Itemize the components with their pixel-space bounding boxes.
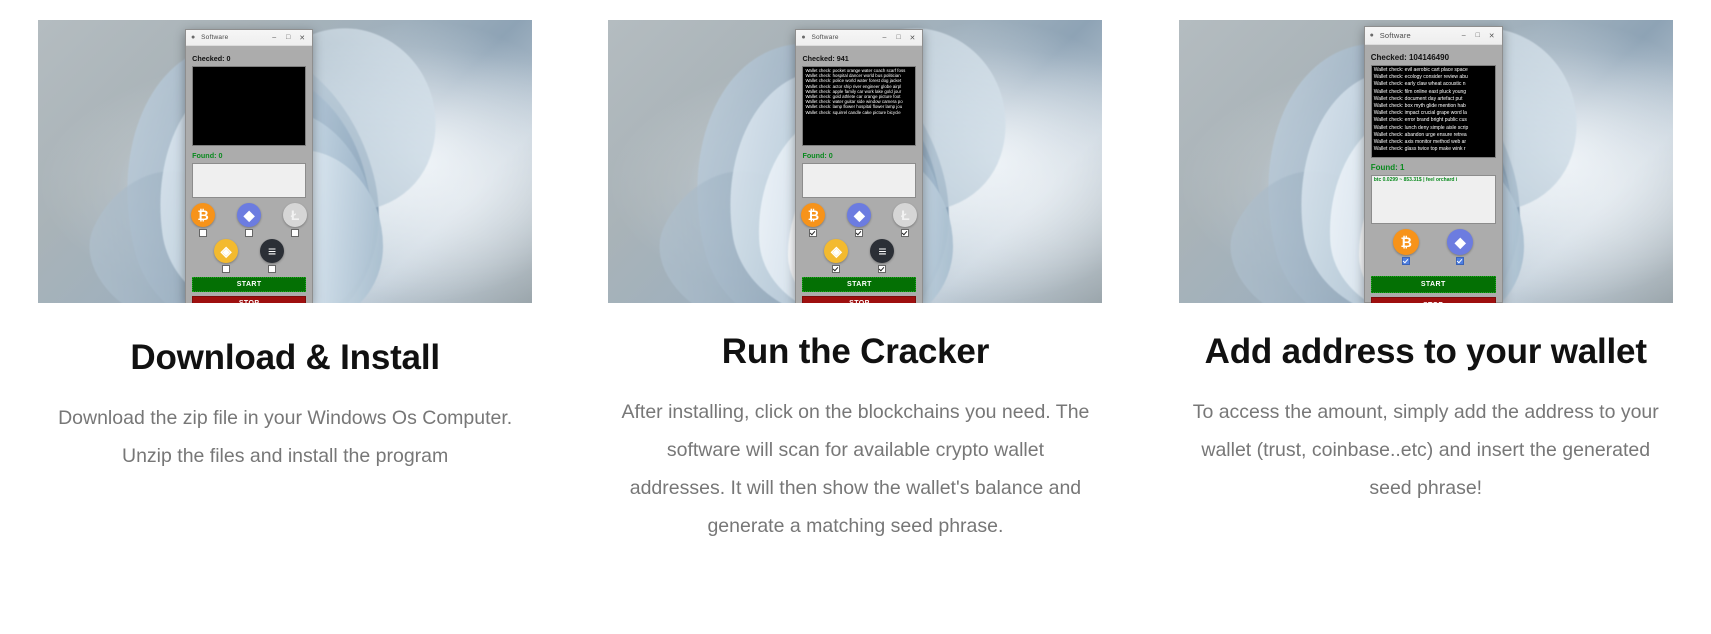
coin-option-litecoin[interactable]: Ł <box>893 203 917 237</box>
step-title-2: Run the Cracker <box>722 331 989 373</box>
found-results-box[interactable] <box>192 163 306 198</box>
log-line: Wallet check: box myth glide mention hab <box>1374 103 1493 110</box>
step-column-3: ● Software – □ ✕ Checked: 104146490 Wall… <box>1141 20 1711 545</box>
litecoin-checkbox[interactable] <box>901 229 909 237</box>
coin-option-binance[interactable]: ◈ <box>214 239 238 273</box>
litecoin-icon: Ł <box>893 203 917 227</box>
bitcoin-checkbox[interactable] <box>1402 257 1410 265</box>
log-line: Wallet check: document day artefact put <box>1374 96 1493 103</box>
checked-counter: Checked: 941 <box>802 54 916 63</box>
solana-icon: ≡ <box>260 239 284 263</box>
screenshot-step-1: ● Software – □ ✕ Checked: 0 Found: 0 <box>38 20 532 303</box>
wallet-check-log[interactable]: Wallet check: evil aerobic cart place sp… <box>1371 65 1496 158</box>
minimize-button[interactable]: – <box>877 31 891 45</box>
bitcoin-checkbox[interactable] <box>199 229 207 237</box>
maximize-button[interactable]: □ <box>1471 29 1485 43</box>
log-line: Wallet check: early claw wheat acoustic … <box>1374 81 1493 88</box>
log-line: Wallet check: axis monitor method web ar <box>1374 139 1493 146</box>
litecoin-checkbox[interactable] <box>291 229 299 237</box>
solana-checkbox[interactable] <box>268 265 276 273</box>
ethereum-checkbox[interactable] <box>855 229 863 237</box>
close-button[interactable]: ✕ <box>905 31 919 45</box>
binance-icon: ◈ <box>824 239 848 263</box>
log-line: Wallet check: squirrel candle cake pictu… <box>805 110 913 115</box>
window-titlebar[interactable]: ● Software – □ ✕ <box>1365 27 1502 45</box>
found-results-box[interactable] <box>802 163 916 198</box>
window-title: Software <box>201 34 228 41</box>
step-title-3: Add address to your wallet <box>1205 331 1647 373</box>
step-column-1: ● Software – □ ✕ Checked: 0 Found: 0 <box>0 20 570 545</box>
coin-option-solana[interactable]: ≡ <box>260 239 284 273</box>
maximize-button[interactable]: □ <box>891 31 905 45</box>
found-counter: Found: 1 <box>1371 163 1496 172</box>
log-line: Wallet check: evil aerobic cart place sp… <box>1374 67 1493 74</box>
coin-option-ethereum[interactable]: ◆ <box>1447 229 1473 265</box>
bitcoin-icon: ₿ <box>1393 229 1419 255</box>
log-line: Wallet check: lamp flower hospital flowe… <box>805 104 913 109</box>
checked-counter: Checked: 0 <box>192 54 306 63</box>
solana-icon: ≡ <box>870 239 894 263</box>
stop-button[interactable]: STOP <box>802 296 916 303</box>
app-window-3[interactable]: ● Software – □ ✕ Checked: 104146490 Wall… <box>1364 26 1503 303</box>
step-column-2: ● Software – □ ✕ Checked: 941 Wallet che… <box>570 20 1140 545</box>
coin-option-bitcoin[interactable]: ₿ <box>801 203 825 237</box>
step-body-3: To access the amount, simply add the add… <box>1191 393 1661 507</box>
log-line: Wallet check: lunch deny simple aisle sc… <box>1374 125 1493 132</box>
coin-option-bitcoin[interactable]: ₿ <box>191 203 215 237</box>
bitcoin-app-icon: ● <box>1368 32 1376 40</box>
log-line: Wallet check: abandon urge ensure retrea <box>1374 132 1493 139</box>
log-line: Wallet check: film online east pluck you… <box>1374 89 1493 96</box>
bitcoin-app-icon: ● <box>189 34 197 42</box>
log-line: Wallet check: ecology consider review ab… <box>1374 74 1493 81</box>
log-line: Wallet check: error brand bright public … <box>1374 117 1493 124</box>
coin-option-ethereum[interactable]: ◆ <box>237 203 261 237</box>
screenshot-step-2: ● Software – □ ✕ Checked: 941 Wallet che… <box>608 20 1102 303</box>
binance-icon: ◈ <box>214 239 238 263</box>
window-titlebar[interactable]: ● Software – □ ✕ <box>796 30 922 46</box>
wallet-check-log[interactable] <box>192 66 306 146</box>
window-title: Software <box>811 34 838 41</box>
ethereum-icon: ◆ <box>1447 229 1473 255</box>
start-button[interactable]: START <box>192 277 306 292</box>
close-button[interactable]: ✕ <box>1485 29 1499 43</box>
log-line: Wallet check: police world water forest … <box>805 78 913 83</box>
coin-option-ethereum[interactable]: ◆ <box>847 203 871 237</box>
coin-option-binance[interactable]: ◈ <box>824 239 848 273</box>
log-line: Wallet check: glass twice top make wink … <box>1374 146 1493 153</box>
window-titlebar[interactable]: ● Software – □ ✕ <box>186 30 312 46</box>
bitcoin-app-icon: ● <box>799 34 807 42</box>
solana-checkbox[interactable] <box>878 265 886 273</box>
maximize-button[interactable]: □ <box>281 31 295 45</box>
coin-option-bitcoin[interactable]: ₿ <box>1393 229 1419 265</box>
coin-selector: ₿ ◆ Ł <box>802 203 916 273</box>
binance-checkbox[interactable] <box>222 265 230 273</box>
found-counter: Found: 0 <box>192 151 306 160</box>
coin-selector: ₿ ◆ Ł <box>192 203 306 273</box>
coin-option-solana[interactable]: ≡ <box>870 239 894 273</box>
found-results-box[interactable]: btc 0.0299 ~ 853.31$ | feel orchard i <box>1371 175 1496 224</box>
coin-option-litecoin[interactable]: Ł <box>283 203 307 237</box>
app-window-1[interactable]: ● Software – □ ✕ Checked: 0 Found: 0 <box>185 29 313 303</box>
step-body-1: Download the zip file in your Windows Os… <box>50 399 520 475</box>
stop-button[interactable]: STOP <box>1371 297 1496 303</box>
app-window-2[interactable]: ● Software – □ ✕ Checked: 941 Wallet che… <box>795 29 923 303</box>
checked-counter: Checked: 104146490 <box>1371 53 1496 62</box>
coin-selector: ₿ ◆ <box>1371 229 1496 265</box>
bitcoin-checkbox[interactable] <box>809 229 817 237</box>
ethereum-checkbox[interactable] <box>1456 257 1464 265</box>
start-button[interactable]: START <box>1371 276 1496 293</box>
screenshot-step-3: ● Software – □ ✕ Checked: 104146490 Wall… <box>1179 20 1673 303</box>
start-button[interactable]: START <box>802 277 916 292</box>
wallet-check-log[interactable]: Wallet check: pocket orange water coach … <box>802 66 916 146</box>
binance-checkbox[interactable] <box>832 265 840 273</box>
stop-button[interactable]: STOP <box>192 296 306 303</box>
found-line: btc 0.0299 ~ 853.31$ | feel orchard i <box>1374 177 1493 183</box>
ethereum-checkbox[interactable] <box>245 229 253 237</box>
minimize-button[interactable]: – <box>267 31 281 45</box>
found-counter: Found: 0 <box>802 151 916 160</box>
minimize-button[interactable]: – <box>1457 29 1471 43</box>
close-button[interactable]: ✕ <box>295 31 309 45</box>
step-title-1: Download & Install <box>130 337 439 379</box>
ethereum-icon: ◆ <box>237 203 261 227</box>
step-body-2: After installing, click on the blockchai… <box>620 393 1090 545</box>
litecoin-icon: Ł <box>283 203 307 227</box>
ethereum-icon: ◆ <box>847 203 871 227</box>
log-line: Wallet check: impact crucial grape word … <box>1374 110 1493 117</box>
bitcoin-icon: ₿ <box>801 203 825 227</box>
window-title: Software <box>1380 31 1411 40</box>
bitcoin-icon: ₿ <box>191 203 215 227</box>
steps-row: ● Software – □ ✕ Checked: 0 Found: 0 <box>0 0 1711 545</box>
